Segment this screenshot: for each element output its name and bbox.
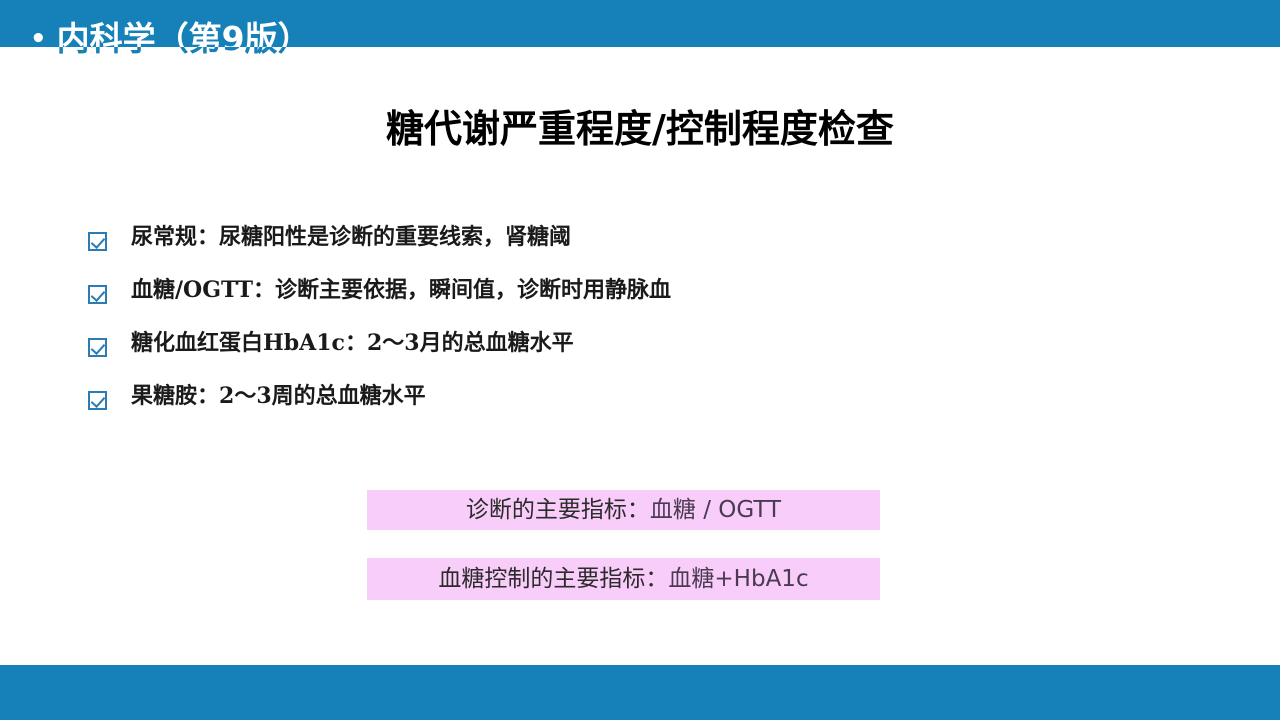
highlight-box-control: 血糖控制的主要指标：血糖+HbA1c <box>367 558 880 600</box>
highlight-label: 诊断的主要指标： <box>466 499 650 522</box>
list-item-label: 糖化血红蛋白HbA1c：2～3月的总血糖水平 <box>131 331 574 356</box>
list-item: 果糖胺：2～3周的总血糖水平 <box>88 384 1188 437</box>
list-item-label: 果糖胺：2～3周的总血糖水平 <box>131 384 426 409</box>
list-item-label: 尿常规：尿糖阳性是诊断的重要线索，肾糖阈 <box>131 225 571 250</box>
header-book-title-text: 内科学（第9版） <box>57 19 311 47</box>
bottom-blue-band <box>0 665 1280 720</box>
checked-checkbox-icon <box>88 391 107 410</box>
header-bullet-icon-overflow: • <box>30 47 47 54</box>
header-book-title-top: •内科学（第9版） <box>30 22 311 47</box>
list-item: 尿常规：尿糖阳性是诊断的重要线索，肾糖阈 <box>88 225 1188 278</box>
header-book-title-bottom: •内科学（第9版） <box>30 47 311 55</box>
slide-title: 糖代谢严重程度/控制程度检查 <box>0 98 1280 153</box>
header-title-clip-bottom: •内科学（第9版） <box>0 47 1280 87</box>
highlight-box-diagnosis: 诊断的主要指标：血糖 / OGTT <box>367 490 880 530</box>
list-item: 血糖/OGTT：诊断主要依据，瞬间值，诊断时用静脉血 <box>88 278 1188 331</box>
header-book-title-text-overflow: 内科学（第9版） <box>57 47 311 58</box>
highlight-label: 血糖控制的主要指标： <box>438 568 668 591</box>
checked-checkbox-icon <box>88 285 107 304</box>
highlight-value: 血糖+HbA1c <box>668 568 808 591</box>
checklist: 尿常规：尿糖阳性是诊断的重要线索，肾糖阈 血糖/OGTT：诊断主要依据，瞬间值，… <box>88 225 1188 437</box>
list-item: 糖化血红蛋白HbA1c：2～3月的总血糖水平 <box>88 331 1188 384</box>
highlight-value: 血糖 / OGTT <box>650 499 781 522</box>
checked-checkbox-icon <box>88 232 107 251</box>
list-item-label: 血糖/OGTT：诊断主要依据，瞬间值，诊断时用静脉血 <box>131 278 671 303</box>
header-bullet-icon: • <box>30 24 47 47</box>
checked-checkbox-icon <box>88 338 107 357</box>
header-title-clip-top: •内科学（第9版） <box>0 0 1280 47</box>
